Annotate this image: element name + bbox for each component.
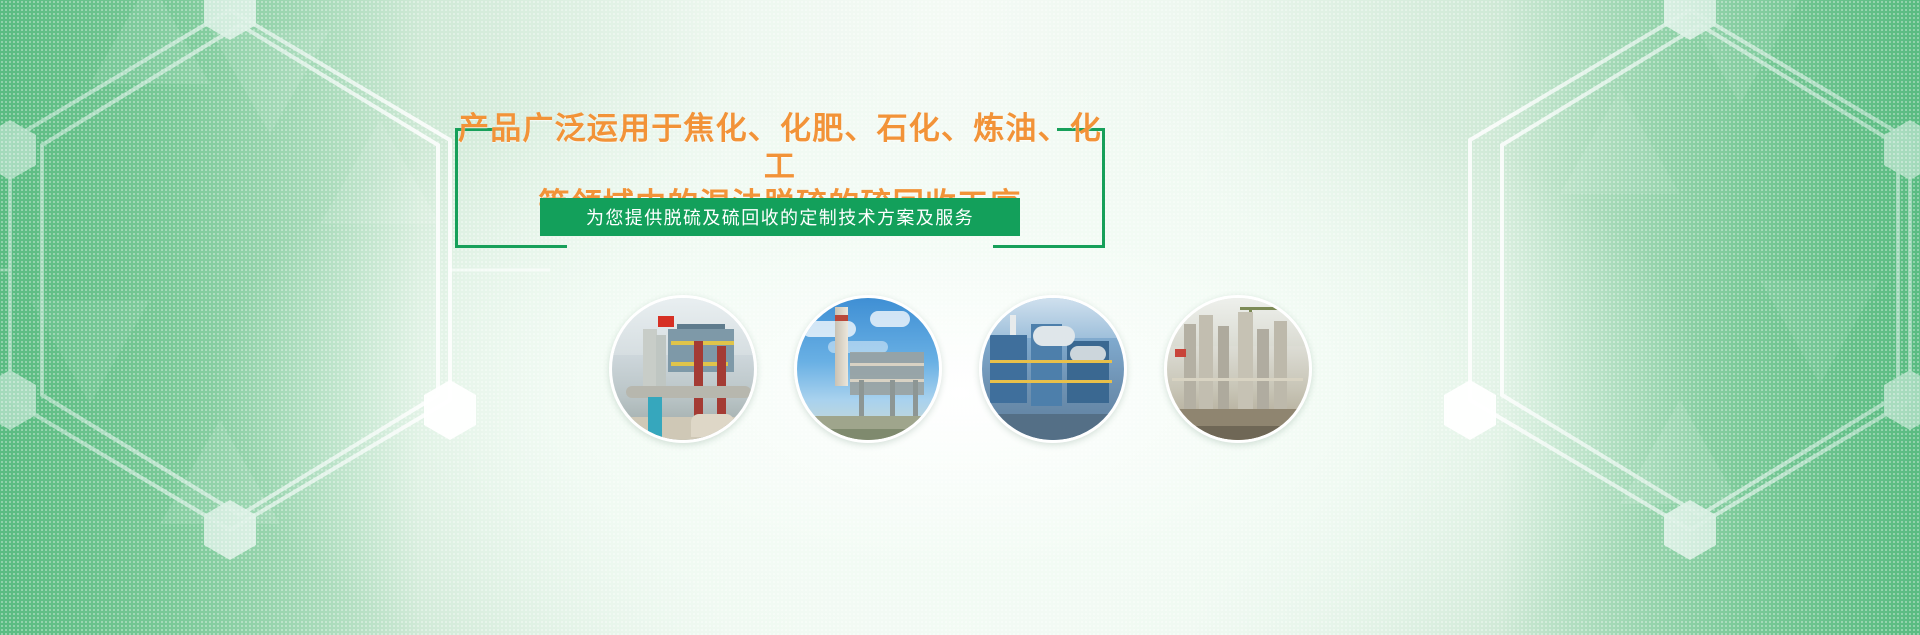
banner-content: 产品广泛运用于焦化、化肥、石化、炼油、化工 等领域中的湿法脱硫的硫回收工序 为您… [0,0,1920,635]
photo-strip [0,295,1920,443]
photo-blue-refinery-units[interactable] [979,295,1127,443]
photo-chimney-stack[interactable] [794,295,942,443]
subtitle-text: 为您提供脱硫及硫回收的定制技术方案及服务 [586,204,974,230]
promo-banner: 产品广泛运用于焦化、化肥、石化、炼油、化工 等领域中的湿法脱硫的硫回收工序 为您… [0,0,1920,635]
subtitle-bar: 为您提供脱硫及硫回收的定制技术方案及服务 [540,198,1020,236]
headline-line-1: 产品广泛运用于焦化、化肥、石化、炼油、化工 [458,111,1102,185]
photo-distillation-towers[interactable] [1164,295,1312,443]
photo-sulfur-recovery-plant[interactable] [609,295,757,443]
